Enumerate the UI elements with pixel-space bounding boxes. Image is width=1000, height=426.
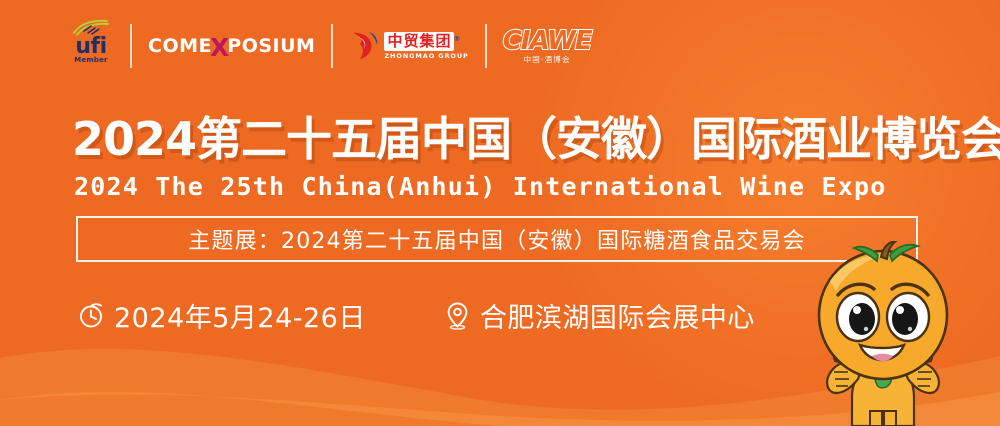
event-venue-text: 合肥滨湖国际会展中心 bbox=[480, 296, 755, 335]
zhongmao-trademark: ® bbox=[453, 31, 461, 48]
comexposium-text-left: COME bbox=[148, 35, 212, 57]
logo-ufi[interactable]: ufi Member bbox=[68, 19, 114, 73]
logo-zhongmao[interactable]: 中贸集团® ZHONGMAO GROUP bbox=[349, 30, 468, 62]
comexposium-text-right: POSIUM bbox=[227, 35, 315, 57]
wine-expo-banner: ufi Member COME X POSIUM bbox=[0, 0, 1000, 426]
logo-divider-1 bbox=[130, 24, 132, 68]
logo-comexposium[interactable]: COME X POSIUM bbox=[148, 33, 315, 59]
ufi-wordmark: ufi bbox=[75, 37, 106, 56]
ufi-tagline: Member bbox=[74, 56, 107, 64]
theme-exhibition-text: 主题展：2024第二十五届中国（安徽）国际糖酒食品交易会 bbox=[188, 223, 806, 255]
event-date: 2024年5月24-26日 bbox=[78, 296, 366, 335]
event-venue: 合肥滨湖国际会展中心 bbox=[444, 296, 755, 335]
ciawe-wordmark: CIAWE bbox=[503, 28, 592, 54]
partner-logo-bar: ufi Member COME X POSIUM bbox=[0, 0, 1000, 92]
event-date-text: 2024年5月24-26日 bbox=[114, 296, 366, 335]
ciawe-subtitle: 中国·酒博会 bbox=[524, 55, 571, 65]
logo-divider-3 bbox=[485, 24, 487, 68]
location-pin-icon bbox=[444, 301, 471, 330]
zhongmao-name-en: ZHONGMAO GROUP bbox=[384, 52, 468, 61]
ufi-wing-icon bbox=[71, 19, 111, 36]
orange-mascot bbox=[778, 241, 988, 426]
banner-title-cn: 2024第二十五届中国（安徽）国际酒业博览会 bbox=[72, 110, 1000, 168]
zhongmao-mark-icon bbox=[349, 30, 379, 62]
clock-icon bbox=[78, 302, 105, 329]
logo-divider-2 bbox=[331, 24, 333, 68]
banner-meta-row: 2024年5月24-26日 合肥滨湖国际会展中心 bbox=[78, 296, 755, 335]
comexposium-x-glyph: X bbox=[210, 33, 229, 62]
zhongmao-name-cn-text: 中贸集团 bbox=[387, 32, 451, 50]
zhongmao-name-cn: 中贸集团® bbox=[384, 32, 454, 51]
banner-title-en: 2024 The 25th China(Anhui) International… bbox=[74, 172, 887, 202]
logo-ciawe[interactable]: CIAWE 中国·酒博会 bbox=[503, 28, 592, 65]
